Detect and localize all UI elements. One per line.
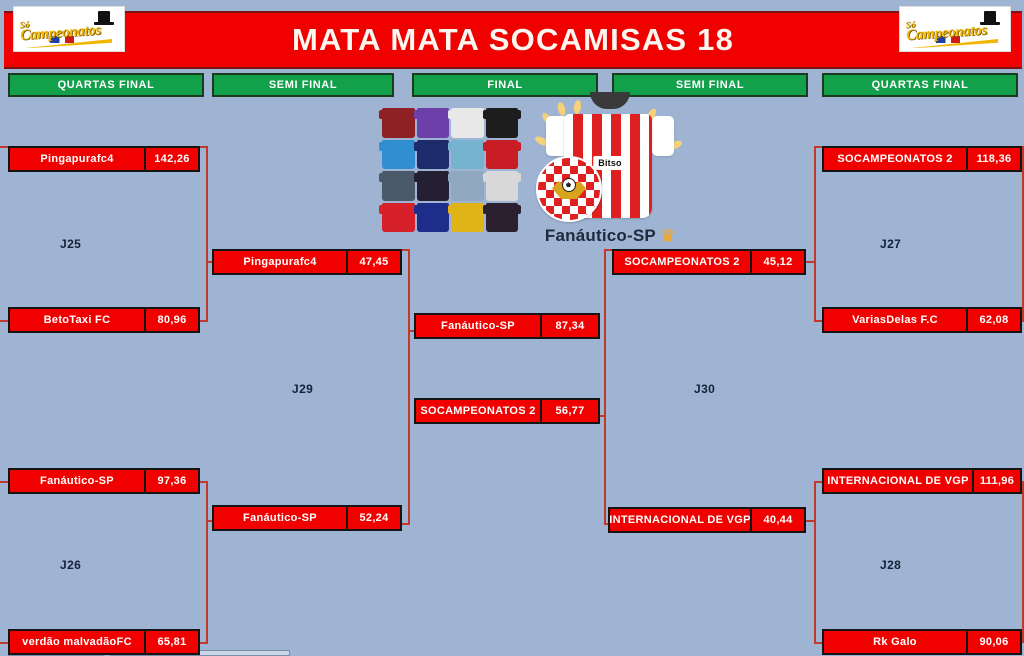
- jersey-icon-3: [451, 108, 484, 138]
- match-label-j30: J30: [694, 382, 715, 396]
- jersey-icon-11: [451, 171, 484, 201]
- connector-j29-spine: [408, 249, 410, 524]
- jersey-icon-7: [451, 140, 484, 170]
- jersey-icon-13: [382, 203, 415, 233]
- match-entry-left-qf2-top[interactable]: Fanáutico-SP 97,36: [8, 468, 200, 494]
- team-name: SOCAMPEONATOS 2: [614, 251, 750, 273]
- connector-j28-spine: [814, 481, 816, 643]
- match-entry-left-sf-bottom[interactable]: Fanáutico-SP 52,24: [212, 505, 402, 531]
- connector-j30-spine: [604, 249, 606, 524]
- match-label-j26: J26: [60, 558, 81, 572]
- so-campeonatos-logo-left: Só Campeonatos: [13, 6, 125, 52]
- connector-j26-spine: [206, 481, 208, 643]
- club-badge-icon: [536, 156, 602, 222]
- team-score: 90,06: [966, 631, 1020, 653]
- jersey-icon-6: [417, 140, 450, 170]
- team-score: 56,77: [540, 400, 598, 422]
- match-entry-final-top[interactable]: Fanáutico-SP 87,34: [414, 313, 600, 339]
- match-entry-left-qf1-top[interactable]: Pingapurafc4 142,26: [8, 146, 200, 172]
- team-name: Fanáutico-SP: [416, 315, 540, 337]
- crown-icon: ♛: [661, 228, 676, 245]
- match-label-j28: J28: [880, 558, 901, 572]
- match-label-j27: J27: [880, 237, 901, 251]
- match-entry-right-qf1-bottom[interactable]: VariasDelas F.C 62,08: [822, 307, 1022, 333]
- team-score: 87,34: [540, 315, 598, 337]
- team-name: verdão malvadãoFC: [10, 631, 144, 653]
- jersey-sponsor-label: Bitso: [593, 156, 627, 170]
- team-name: Pingapurafc4: [10, 148, 144, 170]
- match-entry-left-sf-top[interactable]: Pingapurafc4 47,45: [212, 249, 402, 275]
- jersey-icon-14: [417, 203, 450, 233]
- team-name: BetoTaxi FC: [10, 309, 144, 331]
- jersey-sleeve-right: [652, 116, 674, 156]
- team-name: Fanáutico-SP: [10, 470, 144, 492]
- team-score: 45,12: [750, 251, 804, 273]
- team-name: Fanáutico-SP: [214, 507, 346, 529]
- header-banner: MATA MATA SOCAMISAS 18: [4, 11, 1022, 69]
- jersey-icon-5: [382, 140, 415, 170]
- logo-text: Só Campeonatos: [19, 15, 101, 44]
- match-entry-right-qf2-top[interactable]: INTERNACIONAL DE VGP 111,96: [822, 468, 1022, 494]
- page-title: MATA MATA SOCAMISAS 18: [4, 22, 1022, 58]
- jersey-icon-12: [486, 171, 519, 201]
- match-entry-left-qf1-bottom[interactable]: BetoTaxi FC 80,96: [8, 307, 200, 333]
- team-score: 111,96: [972, 470, 1020, 492]
- soccer-ball-icon: [562, 178, 576, 192]
- round-header-final: FINAL: [412, 73, 598, 97]
- jersey-icon-2: [417, 108, 450, 138]
- jersey-collar: [590, 92, 630, 109]
- round-header-quartas-final-left: QUARTAS FINAL: [8, 73, 204, 97]
- jersey-icon-16: [486, 203, 519, 233]
- team-score: 118,36: [966, 148, 1020, 170]
- jersey-icon-8: [486, 140, 519, 170]
- team-score: 62,08: [966, 309, 1020, 331]
- jersey-icon-4: [486, 108, 519, 138]
- jersey-icon-15: [451, 203, 484, 233]
- match-label-j25: J25: [60, 237, 81, 251]
- connector-j25-spine: [206, 146, 208, 321]
- jersey-icon-1: [382, 108, 415, 138]
- team-score: 47,45: [346, 251, 400, 273]
- champion-name: Fanáutico-SP ♛: [530, 226, 690, 246]
- sparkle-icon: [573, 100, 581, 115]
- logo-line2: Campeonatos: [906, 23, 988, 44]
- tournament-bracket-page: MATA MATA SOCAMISAS 18 Só Campeonatos Só…: [0, 0, 1024, 656]
- match-entry-right-qf1-top[interactable]: SOCAMPEONATOS 2 118,36: [822, 146, 1022, 172]
- team-score: 65,81: [144, 631, 198, 653]
- jersey-icon-9: [382, 171, 415, 201]
- jersey-icon-10: [417, 171, 450, 201]
- match-entry-right-sf-bottom[interactable]: INTERNACIONAL DE VGP 40,44: [608, 507, 806, 533]
- champion-graphic: Bitso Fanáutico-SP ♛: [530, 100, 690, 250]
- team-score: 142,26: [144, 148, 198, 170]
- team-score: 80,96: [144, 309, 198, 331]
- champion-name-text: Fanáutico-SP: [545, 226, 656, 245]
- team-name: Rk Galo: [824, 631, 966, 653]
- round-header-semi-final-right: SEMI FINAL: [612, 73, 808, 97]
- match-entry-right-qf2-bottom[interactable]: Rk Galo 90,06: [822, 629, 1022, 655]
- match-label-j29: J29: [292, 382, 313, 396]
- team-name: INTERNACIONAL DE VGP: [610, 509, 750, 531]
- round-header-quartas-final-right: QUARTAS FINAL: [822, 73, 1018, 97]
- match-entry-left-qf2-bottom[interactable]: verdão malvadãoFC 65,81: [8, 629, 200, 655]
- so-campeonatos-logo-right: Só Campeonatos: [899, 6, 1011, 52]
- logo-line2: Campeonatos: [20, 23, 102, 44]
- connector-j27-out: [806, 261, 816, 263]
- connector-j27-spine: [814, 146, 816, 321]
- match-entry-right-sf-top[interactable]: SOCAMPEONATOS 2 45,12: [612, 249, 806, 275]
- team-score: 97,36: [144, 470, 198, 492]
- team-name: Pingapurafc4: [214, 251, 346, 273]
- round-header-semi-final-left: SEMI FINAL: [212, 73, 394, 97]
- team-name: SOCAMPEONATOS 2: [416, 400, 540, 422]
- team-name: SOCAMPEONATOS 2: [824, 148, 966, 170]
- match-entry-final-bottom[interactable]: SOCAMPEONATOS 2 56,77: [414, 398, 600, 424]
- team-name: INTERNACIONAL DE VGP: [824, 470, 972, 492]
- connector-j28-out: [806, 520, 816, 522]
- team-name: VariasDelas F.C: [824, 309, 966, 331]
- logo-text: Só Campeonatos: [905, 15, 987, 44]
- team-score: 40,44: [750, 509, 804, 531]
- team-score: 52,24: [346, 507, 400, 529]
- jersey-collage: [382, 108, 518, 232]
